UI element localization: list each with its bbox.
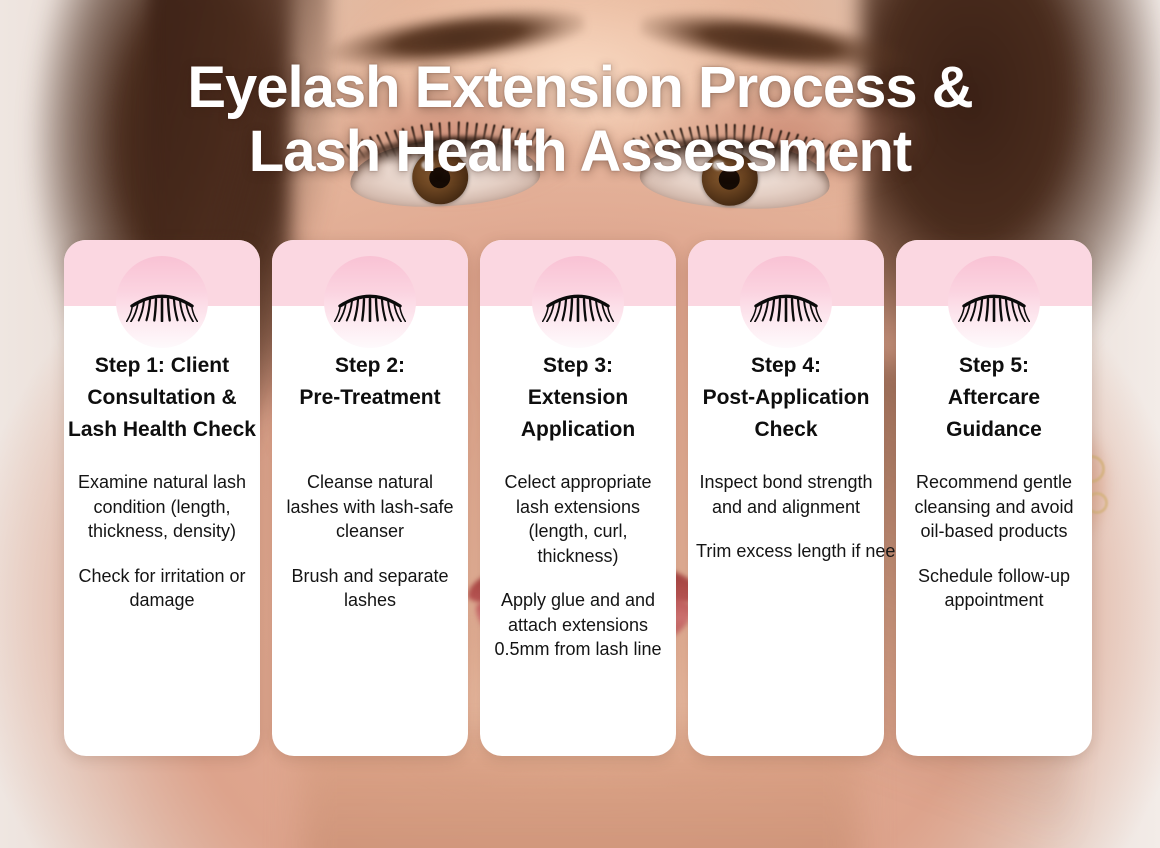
step-card-1[interactable]: Step 1: Client Consultation & Lash Healt… <box>64 240 260 756</box>
card-point: Schedule follow-up appointment <box>898 564 1090 613</box>
card-title-line: Check <box>690 414 882 446</box>
card-point: Check for irritation or damage <box>66 564 258 613</box>
card-title-line: Step 2: <box>274 350 466 382</box>
card-body: Step 5: Aftercare Guidance Recommend gen… <box>896 350 1092 613</box>
closed-eye-lashes-icon <box>750 284 822 322</box>
step-card-3[interactable]: Step 3: Extension Application Celect app… <box>480 240 676 756</box>
card-point: Inspect bond strength and and alignment <box>690 470 882 519</box>
card-body: Step 3: Extension Application Celect app… <box>480 350 676 662</box>
card-title-line: Consultation & <box>66 382 258 414</box>
card-point: Celect appropriate lash extensions (leng… <box>482 470 674 568</box>
card-title: Step 2: Pre-Treatment <box>274 350 466 414</box>
card-title: Step 5: Aftercare Guidance <box>898 350 1090 446</box>
step-card-5[interactable]: Step 5: Aftercare Guidance Recommend gen… <box>896 240 1092 756</box>
step-cards-row: Step 1: Client Consultation & Lash Healt… <box>64 240 1096 756</box>
card-title: Step 1: Client Consultation & Lash Healt… <box>66 350 258 446</box>
card-title: Step 3: Extension Application <box>482 350 674 446</box>
card-points: Examine natural lash condition (length, … <box>66 470 258 613</box>
closed-eye-lashes-icon <box>542 284 614 322</box>
card-points: Inspect bond strength and and alignment … <box>690 470 882 564</box>
card-point: Apply glue and and attach extensions 0.5… <box>482 588 674 662</box>
step-card-2[interactable]: Step 2: Pre-Treatment Cleanse natural la… <box>272 240 468 756</box>
page-title: Eyelash Extension Process & Lash Health … <box>0 56 1160 184</box>
card-points: Cleanse natural lashes with lash-safe cl… <box>274 470 466 613</box>
card-title-line: Lash Health Check <box>66 414 258 446</box>
infographic-root: Eyelash Extension Process & Lash Health … <box>0 0 1160 848</box>
card-title-line: Step 5: <box>898 350 1090 382</box>
neck <box>300 740 860 848</box>
card-title-line: Pre-Treatment <box>274 382 466 414</box>
card-body: Step 2: Pre-Treatment Cleanse natural la… <box>272 350 468 613</box>
card-title-line: Application <box>482 414 674 446</box>
page-title-line-2: Lash Health Assessment <box>0 120 1160 184</box>
card-body: Step 1: Client Consultation & Lash Healt… <box>64 350 260 613</box>
card-point: Cleanse natural lashes with lash-safe cl… <box>274 470 466 544</box>
card-title: Step 4: Post-Application Check <box>690 350 882 446</box>
card-title-line: Extension <box>482 382 674 414</box>
card-title-line: Step 4: <box>690 350 882 382</box>
card-points: Celect appropriate lash extensions (leng… <box>482 470 674 662</box>
card-point: Recommend gentle cleansing and avoid oil… <box>898 470 1090 544</box>
closed-eye-lashes-icon <box>126 284 198 322</box>
page-title-line-1: Eyelash Extension Process & <box>0 56 1160 120</box>
card-title-line: Post-Application <box>690 382 882 414</box>
closed-eye-lashes-icon <box>958 284 1030 322</box>
card-point: Examine natural lash condition (length, … <box>66 470 258 544</box>
card-title-line: Aftercare <box>898 382 1090 414</box>
card-point: Trim excess length if needed <box>690 539 882 564</box>
card-title-line: Step 1: Client <box>66 350 258 382</box>
card-body: Step 4: Post-Application Check Inspect b… <box>688 350 884 564</box>
card-point: Brush and separate lashes <box>274 564 466 613</box>
step-card-4[interactable]: Step 4: Post-Application Check Inspect b… <box>688 240 884 756</box>
card-title-line: Guidance <box>898 414 1090 446</box>
card-title-line: Step 3: <box>482 350 674 382</box>
closed-eye-lashes-icon <box>334 284 406 322</box>
card-points: Recommend gentle cleansing and avoid oil… <box>898 470 1090 613</box>
